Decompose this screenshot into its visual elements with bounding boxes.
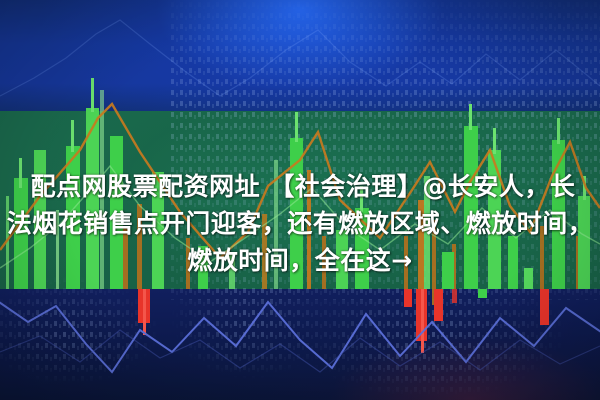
- caption-line-2: 法烟花销售点开门迎客，还有燃放区域、燃放时间，: [0, 205, 600, 242]
- caption-overlay: 配点网股票配资网址 【社会治理】@长安人，长 法烟花销售点开门迎客，还有燃放区域…: [0, 168, 600, 279]
- background-band-bottom-darkblue: [0, 289, 600, 400]
- caption-line-3: 燃放时间，全在这→: [0, 242, 600, 279]
- background-band-top-blue: [0, 0, 600, 111]
- screenshot-root: 配点网股票配资网址 【社会治理】@长安人，长 法烟花销售点开门迎客，还有燃放区域…: [0, 0, 600, 400]
- caption-line-1: 配点网股票配资网址 【社会治理】@长安人，长: [6, 168, 600, 205]
